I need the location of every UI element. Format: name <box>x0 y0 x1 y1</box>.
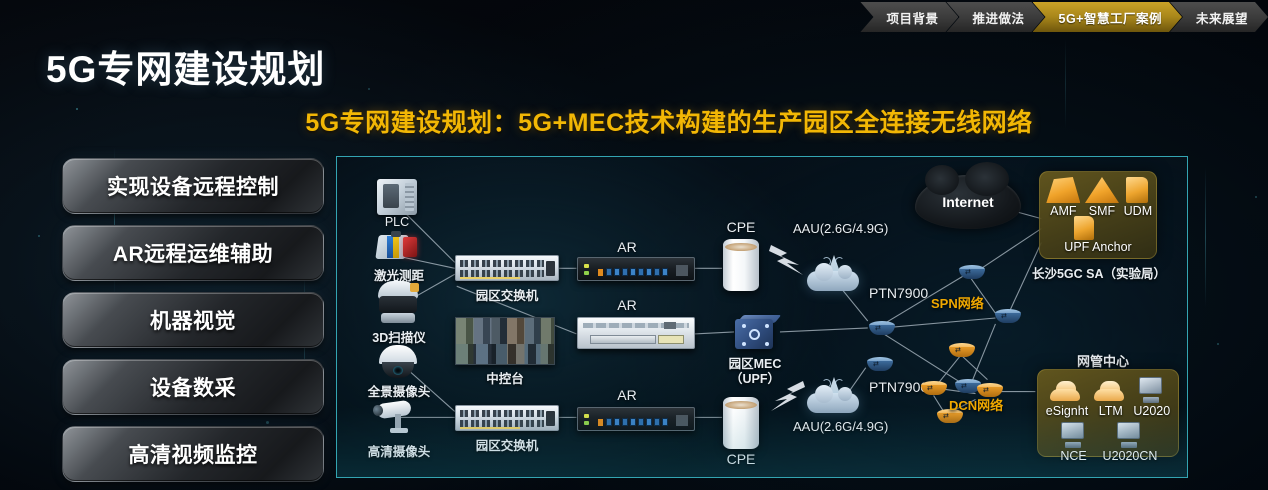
page-subtitle: 5G专网建设规划：5G+MEC技术构建的生产园区全连接无线网络 <box>0 103 1268 139</box>
breadcrumb-label: 未来展望 <box>1196 8 1248 27</box>
internet-cloud-icon: Internet <box>915 175 1021 229</box>
capability-label: 机器视觉 <box>150 305 236 335</box>
core-network-caption: 长沙5GC SA（实验局） <box>1032 263 1166 282</box>
nf-udm: UDM <box>1124 177 1150 218</box>
cpe-bottom-icon <box>723 397 759 449</box>
plc-label: PLC <box>385 215 409 229</box>
capability-item-remote-control[interactable]: 实现设备远程控制 <box>62 158 324 214</box>
campus-switch-bottom-label: 园区交换机 <box>476 435 539 454</box>
ptn-bottom-label: PTN7900 <box>869 379 928 395</box>
nms-ltm: LTM <box>1094 379 1128 418</box>
capability-list: 实现设备远程控制 AR远程运维辅助 机器视觉 设备数采 高清视频监控 <box>62 158 324 482</box>
ar-router-bottom-label: AR <box>617 387 636 403</box>
ar-router-bottom-icon <box>577 407 695 431</box>
capability-item-data-collection[interactable]: 设备数采 <box>62 359 324 415</box>
nms-nce: NCE <box>1059 422 1089 463</box>
ar-router-mid-icon <box>577 317 695 349</box>
nms-u2020cn-label: U2020CN <box>1103 450 1158 463</box>
ar-router-mid-label: AR <box>617 297 636 313</box>
breadcrumb-label: 项目背景 <box>886 8 938 27</box>
aau-bottom-label: AAU(2.6G/4.9G) <box>793 419 888 434</box>
core-network-panel: AMF SMF UDM UPF Anchor <box>1039 171 1157 259</box>
network-topology-diagram: PLC 激光测距 3D扫描仪 全景摄像头 高清摄像头 园区交换机 中控台 园区交… <box>336 156 1188 478</box>
campus-switch-bottom-icon <box>455 405 559 431</box>
nms-nce-label: NCE <box>1060 450 1086 463</box>
campus-switch-top-icon <box>455 255 559 281</box>
cpe-bottom-label: CPE <box>727 451 756 467</box>
nms-u2020cn: U2020CN <box>1103 422 1158 463</box>
laser-rangefinder-icon <box>377 231 419 263</box>
panoramic-camera-label: 全景摄像头 <box>368 381 431 400</box>
cpe-top-label: CPE <box>727 219 756 235</box>
3d-scanner-label: 3D扫描仪 <box>372 327 425 346</box>
capability-label: 高清视频监控 <box>129 439 258 469</box>
cpe-top-icon <box>723 239 759 291</box>
ptn-bottom-icon: ⇄ <box>867 357 893 374</box>
nf-smf: SMF <box>1085 177 1119 218</box>
nf-amf: AMF <box>1046 177 1080 218</box>
dcn-router-1: ⇄ <box>949 343 975 360</box>
hd-camera-icon <box>373 399 419 433</box>
control-console-icon <box>455 317 555 365</box>
breadcrumb-label: 5G+智慧工厂案例 <box>1059 8 1162 27</box>
ptn-top-icon: ⇄ <box>869 321 895 338</box>
nms-u2020-label: U2020 <box>1133 405 1170 418</box>
dcn-router-2: ⇄ <box>921 381 947 398</box>
nf-udm-label: UDM <box>1124 205 1150 218</box>
spn-network-label: SPN网络 <box>931 293 984 312</box>
nms-esight-label: eSignht <box>1046 405 1088 418</box>
panoramic-camera-icon <box>377 345 419 379</box>
capability-label: AR远程运维辅助 <box>113 238 273 268</box>
capability-label: 实现设备远程控制 <box>107 171 279 201</box>
nf-upf-anchor <box>1074 216 1094 240</box>
breadcrumb-item-0[interactable]: 项目背景 <box>860 2 958 32</box>
breadcrumb-item-3[interactable]: 未来展望 <box>1170 2 1268 32</box>
capability-item-hd-video[interactable]: 高清视频监控 <box>62 426 324 482</box>
capability-label: 设备数采 <box>150 372 236 402</box>
spn-router-2: ⇄ <box>995 309 1021 326</box>
page-title: 5G专网建设规划 <box>46 39 325 93</box>
campus-switch-top-label: 园区交换机 <box>476 285 539 304</box>
spn-router-1: ⇄ <box>959 265 985 282</box>
nms-panel-title: 网管中心 <box>1077 351 1129 370</box>
breadcrumb-nav: 项目背景 推进做法 5G+智慧工厂案例 未来展望 <box>860 2 1268 32</box>
nms-u2020: U2020 <box>1133 377 1170 418</box>
plc-icon <box>377 179 417 215</box>
nms-ltm-label: LTM <box>1099 405 1123 418</box>
aau-bottom-icon <box>807 379 859 413</box>
nms-panel: eSignht LTM U2020 NCE U2020CN <box>1037 369 1179 457</box>
dcn-network-label: DCN网络 <box>949 395 1003 414</box>
control-console-label: 中控台 <box>486 368 524 387</box>
nms-esight: eSignht <box>1046 379 1088 418</box>
breadcrumb-item-1[interactable]: 推进做法 <box>946 2 1044 32</box>
ptn-top-label: PTN7900 <box>869 285 928 301</box>
ar-router-top-label: AR <box>617 239 636 255</box>
nf-upf-anchor-label: UPF Anchor <box>1040 240 1156 254</box>
ar-router-top-icon <box>577 257 695 281</box>
hd-camera-label: 高清摄像头 <box>368 441 431 460</box>
breadcrumb-label: 推进做法 <box>972 8 1024 27</box>
internet-label: Internet <box>942 194 993 210</box>
capability-item-ar-maintenance[interactable]: AR远程运维辅助 <box>62 225 324 281</box>
breadcrumb-item-2[interactable]: 5G+智慧工厂案例 <box>1033 2 1182 32</box>
3d-scanner-icon <box>375 281 421 323</box>
campus-mec-icon <box>735 315 779 351</box>
capability-item-machine-vision[interactable]: 机器视觉 <box>62 292 324 348</box>
aau-top-icon <box>807 257 859 291</box>
aau-top-label: AAU(2.6G/4.9G) <box>793 221 888 236</box>
